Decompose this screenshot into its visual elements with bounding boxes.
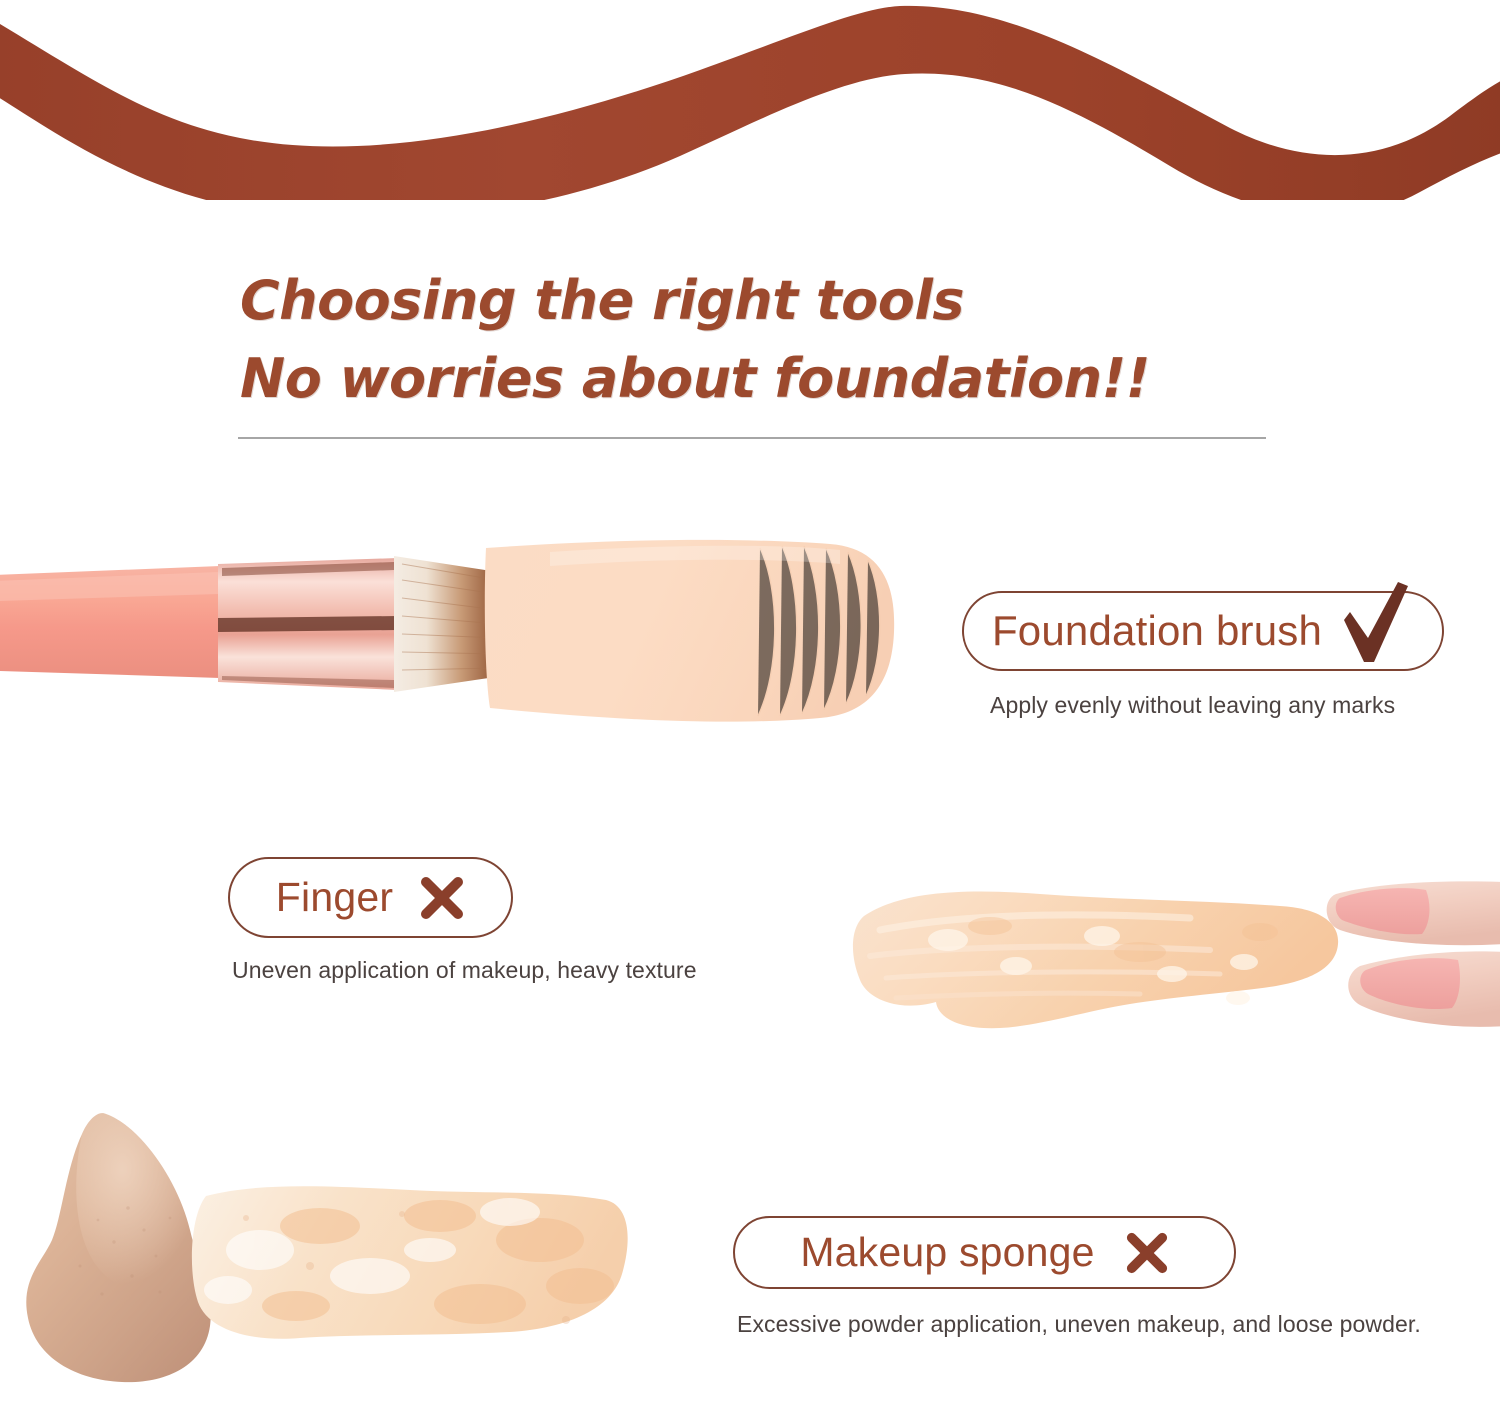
headline-line-2: No worries about foundation!! [240,340,1340,418]
foundation-brush-swatch-photo [0,520,910,760]
caption-finger: Uneven application of makeup, heavy text… [232,957,697,984]
headline-divider [238,437,1266,439]
x-mark-icon [1125,1231,1169,1275]
caption-foundation-brush: Apply evenly without leaving any marks [990,692,1395,719]
check-mark-icon [1340,580,1414,666]
badge-makeup-sponge[interactable]: Makeup sponge [733,1216,1236,1289]
badge-finger[interactable]: Finger [228,857,513,938]
finger-swatch-photo [840,870,1500,1070]
badge-label-foundation-brush: Foundation brush [992,607,1322,655]
badge-foundation-brush[interactable]: Foundation brush [962,591,1444,671]
brown-wave-ribbon [0,0,1500,200]
caption-makeup-sponge: Excessive powder application, uneven mak… [737,1311,1421,1338]
product-info-graphic: Choosing the right tools No worries abou… [0,0,1500,1408]
badge-label-finger: Finger [276,874,393,921]
headline: Choosing the right tools No worries abou… [240,262,1340,419]
makeup-sponge-swatch-photo [10,1090,635,1390]
headline-line-1: Choosing the right tools [240,262,1340,340]
x-mark-icon [419,875,465,921]
badge-label-makeup-sponge: Makeup sponge [800,1229,1094,1276]
